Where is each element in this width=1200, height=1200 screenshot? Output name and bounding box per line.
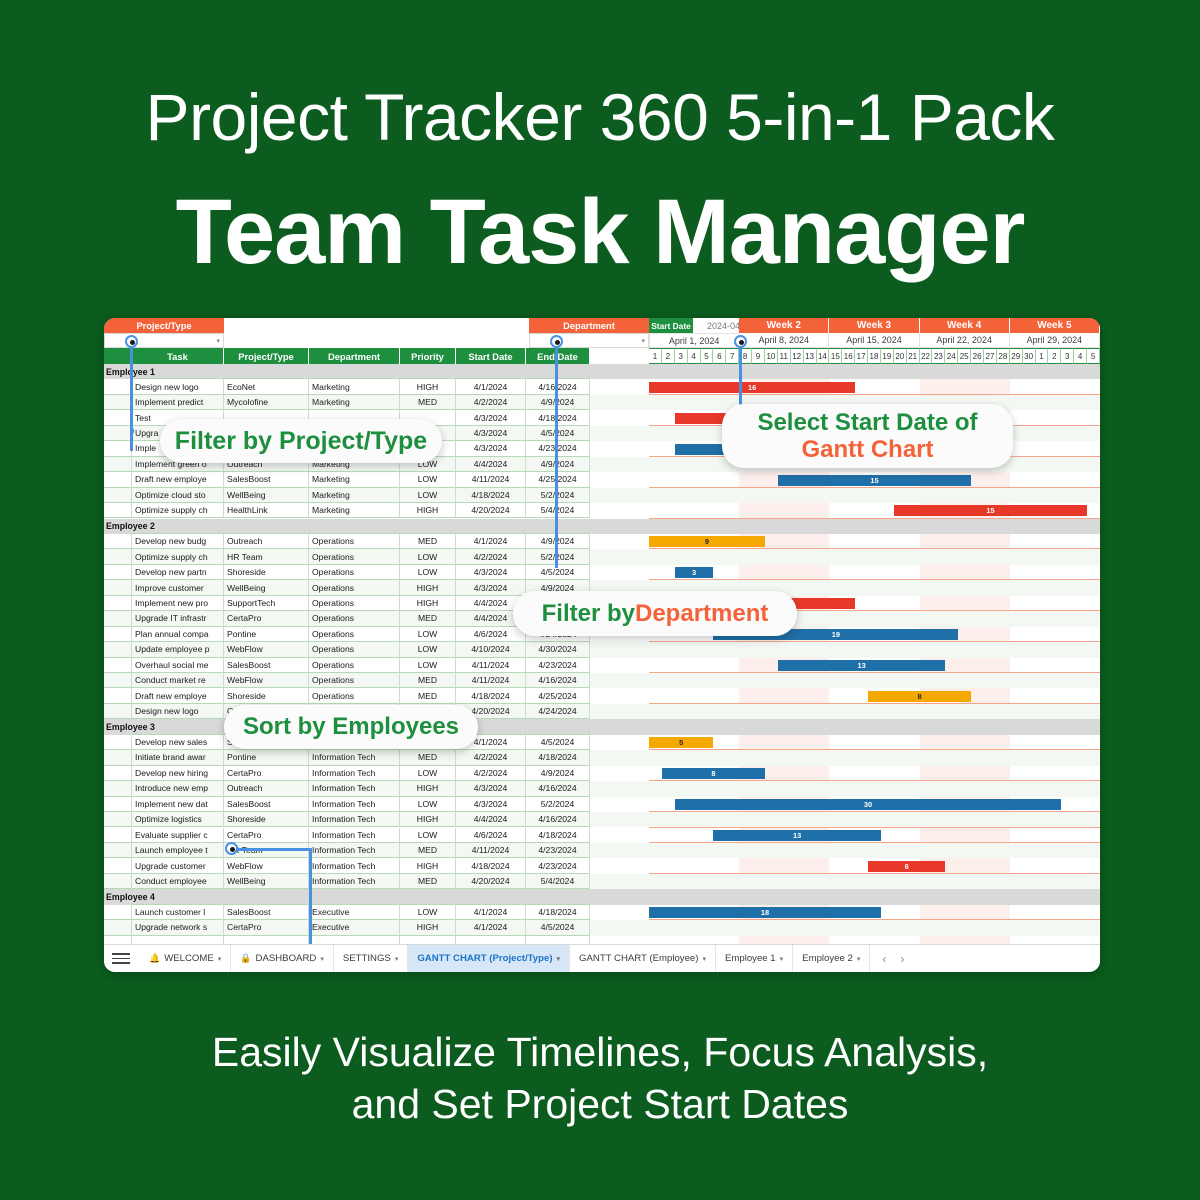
tab-label: WELCOME [164, 953, 214, 964]
cell-rownum [104, 642, 132, 657]
cell-task: Design new logo [132, 379, 224, 394]
cell-priority: LOW [400, 658, 456, 673]
group-cell [456, 519, 526, 534]
cell-end: 4/9/2024 [526, 534, 590, 549]
selection-handle-department[interactable] [550, 335, 563, 348]
cell-task: Update employee p [132, 642, 224, 657]
cell-rownum [104, 750, 132, 765]
cell-department: Marketing [309, 379, 400, 394]
cell-task: Introduce new emp [132, 781, 224, 796]
day-cell: 13 [804, 348, 817, 364]
cell-priority: LOW [400, 766, 456, 781]
cell-rownum [104, 704, 132, 719]
cell-project: HealthLink [224, 503, 309, 518]
cell-project: WellBeing [224, 580, 309, 595]
cell-department: Operations [309, 673, 400, 688]
table-row[interactable]: Develop new budgOutreachOperationsMED4/1… [104, 534, 1100, 549]
cell-priority: HIGH [400, 379, 456, 394]
callout-text: Sort by Employees [243, 713, 459, 740]
cell-priority: LOW [400, 905, 456, 920]
group-cell [309, 519, 400, 534]
cell-project: HR Team [224, 549, 309, 564]
cell-end: 5/4/2024 [526, 503, 590, 518]
week-date-4: April 22, 2024 [920, 333, 1010, 348]
cell-department: Marketing [309, 395, 400, 410]
callout-select-start-date: Select Start Date of Gantt Chart [722, 404, 1013, 468]
cell-project: Pontine [224, 627, 309, 642]
group-cell [132, 719, 224, 734]
group-header-row: Employee 2 [104, 519, 1100, 534]
table-row[interactable]: Optimize supply chHealthLinkMarketingHIG… [104, 503, 1100, 518]
day-cell: 25 [958, 348, 971, 364]
callout-sort-by-employees: Sort by Employees [224, 705, 478, 749]
tab-gantt-chart-project-type[interactable]: GANTT CHART (Project/Type)▾ [408, 945, 570, 973]
week-label-5: Week 5 [1010, 318, 1100, 333]
cell-task: Optimize logistics [132, 812, 224, 827]
cell-priority: HIGH [400, 858, 456, 873]
callout-text-line-1: Select Start Date of [757, 409, 977, 436]
cell-rownum [104, 735, 132, 750]
filter-dropdown-project-type[interactable]: ▾ [104, 333, 224, 348]
cell-rownum [104, 812, 132, 827]
cell-start: 4/11/2024 [456, 658, 526, 673]
chevron-down-icon[interactable]: ▾ [320, 955, 324, 963]
cell-department: Operations [309, 565, 400, 580]
chevron-down-icon: ▾ [216, 337, 220, 345]
table-row[interactable]: Upgrade network sCertaProExecutiveHIGH4/… [104, 920, 1100, 935]
cell-rownum [104, 905, 132, 920]
cell-rownum [104, 688, 132, 703]
callout-text-suffix: Department [635, 600, 768, 627]
day-cell: 19 [881, 348, 894, 364]
cell-project: Outreach [224, 781, 309, 796]
cell-priority: LOW [400, 488, 456, 503]
day-cell: 3 [675, 348, 688, 364]
cell-task: Evaluate supplier c [132, 828, 224, 843]
header-priority[interactable]: Priority [400, 348, 456, 364]
day-cell: 1 [1036, 348, 1049, 364]
prev-sheet-button[interactable]: ‹ [882, 952, 886, 966]
cell-priority: LOW [400, 642, 456, 657]
cell-end: 4/25/2024 [526, 472, 590, 487]
tab-welcome[interactable]: 🔔WELCOME▾ [140, 945, 231, 973]
table-row[interactable]: Launch customer lSalesBoostExecutiveLOW4… [104, 905, 1100, 920]
group-cell [526, 364, 590, 379]
cell-rownum [104, 472, 132, 487]
cell-end: 4/16/2024 [526, 673, 590, 688]
cell-priority: MED [400, 673, 456, 688]
header-start-date[interactable]: Start Date [456, 348, 526, 364]
cell-end: 4/9/2024 [526, 766, 590, 781]
table-row[interactable]: Upgrade customerWebFlowInformation TechH… [104, 858, 1100, 873]
cell-start: 4/4/2024 [456, 457, 526, 472]
cell-rownum [104, 858, 132, 873]
start-date-display[interactable]: April 1, 2024 [649, 333, 739, 348]
cell-priority: LOW [400, 549, 456, 564]
cell-rownum [104, 843, 132, 858]
group-cell [400, 364, 456, 379]
day-cell: 23 [932, 348, 945, 364]
cell-end: 4/18/2024 [526, 410, 590, 425]
table-row[interactable]: Introduce new empOutreachInformation Tec… [104, 781, 1100, 796]
cell-department: Information Tech [309, 828, 400, 843]
group-cell [526, 519, 590, 534]
group-header-row: Employee 4 [104, 889, 1100, 904]
week-label-4: Week 4 [920, 318, 1010, 333]
cell-start: 4/3/2024 [456, 441, 526, 456]
cell-start: 4/2/2024 [456, 549, 526, 564]
day-cell: 20 [894, 348, 907, 364]
chevron-down-icon[interactable]: ▾ [780, 955, 784, 963]
day-cell: 3 [1061, 348, 1074, 364]
callout-text-prefix: Filter by [542, 600, 635, 627]
tab-label: GANTT CHART (Project/Type) [417, 953, 552, 964]
cell-priority: MED [400, 395, 456, 410]
cell-start: 4/2/2024 [456, 395, 526, 410]
cell-end: 4/23/2024 [526, 843, 590, 858]
day-cell: 18 [868, 348, 881, 364]
day-cell: 4 [688, 348, 701, 364]
cell-start: 4/20/2024 [456, 874, 526, 889]
cell-start: 4/18/2024 [456, 488, 526, 503]
selection-box-project-type [130, 429, 134, 433]
poster-root: Project Tracker 360 5-in-1 Pack Team Tas… [0, 0, 1200, 1200]
cell-project: EcoNet [224, 379, 309, 394]
selection-line-department [555, 342, 558, 568]
cell-rownum [104, 457, 132, 472]
filter-blank-1-body [224, 333, 529, 348]
day-cell: 11 [778, 348, 791, 364]
chevron-down-icon[interactable]: ▾ [218, 955, 222, 963]
cell-project: WebFlow [224, 858, 309, 873]
chevron-down-icon: ▾ [641, 337, 645, 345]
cell-priority: MED [400, 874, 456, 889]
cell-project: Shoreside [224, 688, 309, 703]
table-row[interactable]: Develop new partnShoresideOperationsLOW4… [104, 565, 1100, 580]
cell-end: 4/16/2024 [526, 379, 590, 394]
cell-task: Plan annual compa [132, 627, 224, 642]
day-cell: 29 [1010, 348, 1023, 364]
cell-rownum [104, 441, 132, 456]
table-row[interactable]: Implement new datSalesBoostInformation T… [104, 797, 1100, 812]
selection-line-employees-h1 [231, 848, 310, 851]
cell-rownum [104, 920, 132, 935]
table-row[interactable]: Draft new employeShoresideOperationsMED4… [104, 688, 1100, 703]
group-cell [224, 889, 309, 904]
cell-end: 4/18/2024 [526, 828, 590, 843]
cell-department: Information Tech [309, 766, 400, 781]
day-cell: 14 [817, 348, 830, 364]
group-cell [400, 519, 456, 534]
group-cell [526, 889, 590, 904]
cell-rownum [104, 379, 132, 394]
header-project[interactable]: Project/Type [224, 348, 309, 364]
header-end-date[interactable]: End Date [526, 348, 590, 364]
cell-start: 4/3/2024 [456, 426, 526, 441]
table-row[interactable]: Initiate brand awarPontineInformation Te… [104, 750, 1100, 765]
day-cell: 17 [855, 348, 868, 364]
cell-start: 4/11/2024 [456, 673, 526, 688]
cell-start: 4/18/2024 [456, 688, 526, 703]
group-header-row: Employee 1 [104, 364, 1100, 379]
sheet-tab-bar: 🔔WELCOME▾🔒DASHBOARD▾SETTINGS▾GANTT CHART… [104, 944, 1100, 972]
cell-start: 4/18/2024 [456, 858, 526, 873]
cell-rownum [104, 488, 132, 503]
selection-handle-project-type[interactable] [125, 335, 138, 348]
table-row[interactable]: Optimize logisticsShoresideInformation T… [104, 812, 1100, 827]
day-cell: 21 [907, 348, 920, 364]
cell-priority: HIGH [400, 596, 456, 611]
bell-icon: 🔔 [149, 953, 160, 964]
day-cell: 1 [649, 348, 662, 364]
cell-task: Develop new partn [132, 565, 224, 580]
cell-end: 5/2/2024 [526, 549, 590, 564]
chevron-down-icon[interactable]: ▾ [702, 955, 706, 963]
selection-line-project-type [130, 342, 133, 451]
cell-priority: LOW [400, 828, 456, 843]
tab-label: SETTINGS [343, 953, 391, 964]
cell-project: Mycolofine [224, 395, 309, 410]
cell-rownum [104, 410, 132, 425]
callout-text: Filter by Project/Type [175, 427, 427, 456]
cell-rownum [104, 596, 132, 611]
tab-settings[interactable]: SETTINGS▾ [334, 945, 409, 973]
day-cell: 28 [997, 348, 1010, 364]
cell-task: Optimize cloud sto [132, 488, 224, 503]
cell-task: Design new logo [132, 704, 224, 719]
caption-block: Easily Visualize Timelines, Focus Analys… [0, 1026, 1200, 1131]
cell-end: 4/9/2024 [526, 395, 590, 410]
caption-line-1: Easily Visualize Timelines, Focus Analys… [0, 1026, 1200, 1078]
cell-rownum [104, 534, 132, 549]
cell-rownum [104, 673, 132, 688]
cell-task: Upgrade customer [132, 858, 224, 873]
table-row[interactable]: Optimize cloud stoWellBeingMarketingLOW4… [104, 488, 1100, 503]
tab-label: Employee 1 [725, 953, 776, 964]
day-cell: 2 [662, 348, 675, 364]
chevron-down-icon[interactable]: ▾ [557, 955, 561, 963]
table-row[interactable]: Optimize supply chHR TeamOperationsLOW4/… [104, 549, 1100, 564]
day-cell: 4 [1074, 348, 1087, 364]
cell-priority: LOW [400, 627, 456, 642]
cell-start: 4/2/2024 [456, 766, 526, 781]
cell-project: CertaPro [224, 828, 309, 843]
cell-department: Operations [309, 642, 400, 657]
group-cell [400, 889, 456, 904]
cell-department: Information Tech [309, 843, 400, 858]
cell-end: 4/16/2024 [526, 812, 590, 827]
cell-start: 4/3/2024 [456, 565, 526, 580]
cell-task: Conduct employee [132, 874, 224, 889]
cell-task: Optimize supply ch [132, 503, 224, 518]
group-cell [456, 889, 526, 904]
tab-label: DASHBOARD [256, 953, 317, 964]
cell-end: 4/5/2024 [526, 920, 590, 935]
cell-task: Upgrade network s [132, 920, 224, 935]
tab-employee-1[interactable]: Employee 1▾ [716, 945, 793, 973]
cell-priority: MED [400, 534, 456, 549]
cell-department: Operations [309, 688, 400, 703]
headline-line-2: Team Task Manager [0, 186, 1200, 278]
header-department[interactable]: Department [309, 348, 400, 364]
table-row[interactable]: Launch employee tHR TeamInformation Tech… [104, 843, 1100, 858]
day-cell: 16 [842, 348, 855, 364]
cell-end: 4/23/2024 [526, 441, 590, 456]
cell-rownum [104, 426, 132, 441]
cell-task: Draft new employe [132, 688, 224, 703]
header-task[interactable]: Task [132, 348, 224, 364]
cell-start: 4/6/2024 [456, 627, 526, 642]
filter-dropdown-department[interactable]: ▾ [529, 333, 649, 348]
cell-start: 4/11/2024 [456, 472, 526, 487]
cell-end: 4/16/2024 [526, 781, 590, 796]
cell-project: WebFlow [224, 673, 309, 688]
cell-project: WellBeing [224, 874, 309, 889]
cell-start: 4/2/2024 [456, 750, 526, 765]
cell-project: Shoreside [224, 812, 309, 827]
header-rownum [104, 348, 132, 364]
table-row[interactable]: Evaluate supplier cCertaProInformation T… [104, 828, 1100, 843]
week-label-3: Week 3 [829, 318, 919, 333]
table-row[interactable]: Develop new hiringCertaProInformation Te… [104, 766, 1100, 781]
day-cell: 5 [1087, 348, 1100, 364]
cell-task: Develop new hiring [132, 766, 224, 781]
timeline-header: April 1, 20241234567Week 2April 8, 20248… [649, 318, 1100, 364]
cell-task: Develop new budg [132, 534, 224, 549]
cell-priority: LOW [400, 565, 456, 580]
cell-priority: LOW [400, 472, 456, 487]
cell-start: 4/3/2024 [456, 410, 526, 425]
group-cell [309, 889, 400, 904]
table-row[interactable]: Update employee pWebFlowOperationsLOW4/1… [104, 642, 1100, 657]
cell-priority: MED [400, 750, 456, 765]
tab-gantt-chart-employee[interactable]: GANTT CHART (Employee)▾ [570, 945, 716, 973]
cell-end: 4/5/2024 [526, 565, 590, 580]
cell-start: 4/3/2024 [456, 580, 526, 595]
group-cell [132, 519, 224, 534]
day-cell: 22 [920, 348, 933, 364]
cell-start: 4/3/2024 [456, 781, 526, 796]
week-date-2: April 8, 2024 [739, 333, 829, 348]
cell-department: Marketing [309, 488, 400, 503]
tab-label: Employee 2 [802, 953, 853, 964]
cell-task: Optimize supply ch [132, 549, 224, 564]
cell-project: SupportTech [224, 596, 309, 611]
cell-priority: MED [400, 688, 456, 703]
cell-department: Operations [309, 627, 400, 642]
cell-project: CertaPro [224, 920, 309, 935]
cell-rownum [104, 627, 132, 642]
week-date-5: April 29, 2024 [1010, 333, 1100, 348]
callout-text-line-2: Gantt Chart [802, 436, 934, 463]
cell-start: 4/1/2024 [456, 920, 526, 935]
cell-end: 4/18/2024 [526, 750, 590, 765]
selection-handle-start-date[interactable] [734, 335, 747, 348]
filter-label-project-type: Project/Type [104, 318, 224, 333]
cell-task: Conduct market re [132, 673, 224, 688]
cell-task: Implement new pro [132, 596, 224, 611]
cell-priority: HIGH [400, 812, 456, 827]
headline-block: Project Tracker 360 5-in-1 Pack Team Tas… [0, 0, 1200, 278]
cell-start: 4/1/2024 [456, 905, 526, 920]
group-cell [224, 519, 309, 534]
caption-line-2: and Set Project Start Dates [0, 1078, 1200, 1130]
cell-department: Operations [309, 611, 400, 626]
chevron-down-icon[interactable]: ▾ [395, 955, 399, 963]
cell-task: Initiate brand awar [132, 750, 224, 765]
cell-rownum [104, 503, 132, 518]
cell-end: 5/4/2024 [526, 874, 590, 889]
group-cell [526, 719, 590, 734]
cell-project: WellBeing [224, 488, 309, 503]
table-row[interactable]: Draft new employeSalesBoostMarketingLOW4… [104, 472, 1100, 487]
tab-dashboard[interactable]: 🔒DASHBOARD▾ [231, 945, 334, 973]
cell-end: 5/2/2024 [526, 488, 590, 503]
cell-rownum [104, 766, 132, 781]
day-cell: 7 [726, 348, 739, 364]
cell-project: CertaPro [224, 611, 309, 626]
cell-department: Marketing [309, 503, 400, 518]
filter-label-department: Department [529, 318, 649, 333]
group-cell [309, 364, 400, 379]
cell-rownum [104, 565, 132, 580]
group-cell [224, 364, 309, 379]
cell-end: 4/18/2024 [526, 905, 590, 920]
cell-department: Executive [309, 905, 400, 920]
cell-rownum [104, 395, 132, 410]
tab-nav: ‹ › [870, 952, 916, 966]
chevron-down-icon[interactable]: ▾ [857, 955, 861, 963]
filter-blank-1 [224, 318, 529, 333]
cell-rownum [104, 797, 132, 812]
hamburger-icon[interactable] [112, 950, 130, 968]
cell-department: Information Tech [309, 797, 400, 812]
table-row[interactable]: Conduct employeeWellBeingInformation Tec… [104, 874, 1100, 889]
cell-department: Information Tech [309, 874, 400, 889]
cell-department: Information Tech [309, 781, 400, 796]
group-cell [132, 364, 224, 379]
table-row[interactable]: Overhaul social meSalesBoostOperationsLO… [104, 658, 1100, 673]
cell-priority: HIGH [400, 580, 456, 595]
cell-start: 4/3/2024 [456, 797, 526, 812]
selection-handle-employee-2[interactable] [225, 842, 238, 855]
table-row[interactable]: Design new logoEcoNetMarketingHIGH4/1/20… [104, 379, 1100, 394]
cell-end: 4/25/2024 [526, 688, 590, 703]
cell-department: Information Tech [309, 750, 400, 765]
cell-start: 4/1/2024 [456, 379, 526, 394]
cell-task: Launch customer l [132, 905, 224, 920]
cell-project: CertaPro [224, 766, 309, 781]
day-cell: 10 [765, 348, 778, 364]
cell-department: Operations [309, 549, 400, 564]
day-cell: 27 [984, 348, 997, 364]
cell-task: Develop new sales [132, 735, 224, 750]
tab-employee-2[interactable]: Employee 2▾ [793, 945, 870, 973]
day-cell: 5 [701, 348, 714, 364]
cell-end: 4/24/2024 [526, 704, 590, 719]
callout-filter-department: Filter by Department [513, 591, 797, 636]
cell-department: Information Tech [309, 812, 400, 827]
table-row[interactable]: Conduct market reWebFlowOperationsMED4/1… [104, 673, 1100, 688]
cell-priority: MED [400, 611, 456, 626]
cell-end: 4/9/2024 [526, 457, 590, 472]
lock-icon: 🔒 [240, 953, 251, 964]
next-sheet-button[interactable]: › [900, 952, 904, 966]
cell-rownum [104, 828, 132, 843]
tab-label: GANTT CHART (Employee) [579, 953, 698, 964]
tab-list: 🔔WELCOME▾🔒DASHBOARD▾SETTINGS▾GANTT CHART… [140, 945, 870, 973]
cell-task: Upgrade IT infrastr [132, 611, 224, 626]
